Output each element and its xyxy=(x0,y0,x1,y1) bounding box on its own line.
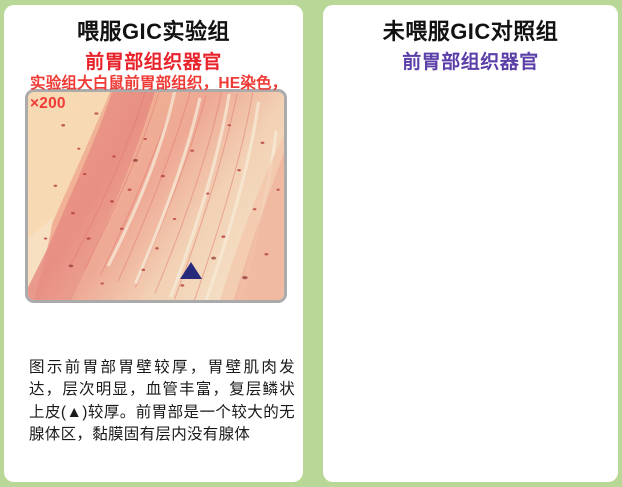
panel-experimental-group: 喂服GIC实验组 前胃部组织器官 xyxy=(4,5,303,482)
panel-subtitle-experimental: 前胃部组织器官 xyxy=(4,44,303,74)
comparison-figure: 喂服GIC实验组 前胃部组织器官 xyxy=(0,0,622,487)
epithelium-marker-triangle-icon xyxy=(180,262,202,279)
micrograph-experimental-image xyxy=(28,92,284,301)
panel-title-control: 未喂服GIC对照组 xyxy=(323,5,618,44)
panel-subtitle-control: 前胃部组织器官 xyxy=(323,44,618,74)
panel-control-group: 未喂服GIC对照组 前胃部组织器官 xyxy=(323,5,618,482)
micrograph-experimental xyxy=(25,89,287,303)
panel-title-experimental: 喂服GIC实验组 xyxy=(4,5,303,44)
description-experimental: 图示前胃部胃壁较厚，胃壁肌肉发达，层次明显，血管丰富，复层鳞状上皮(▲)较厚。前… xyxy=(29,357,295,447)
caption-experimental: 实验组大白鼠前胃部组织，HE染色， ×200 xyxy=(30,74,289,113)
